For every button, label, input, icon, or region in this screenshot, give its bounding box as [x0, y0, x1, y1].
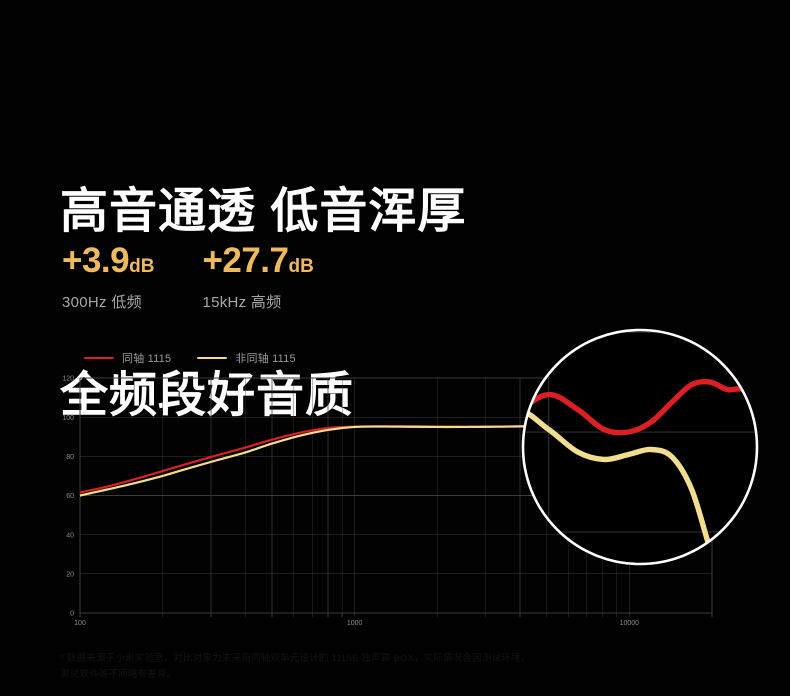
legend-swatch-non-coaxial-icon — [197, 357, 227, 359]
stat-high-frequency-value: +27.7dB — [202, 243, 313, 278]
stat-high-frequency-unit: dB — [289, 256, 314, 277]
legend-swatch-coaxial-icon — [84, 357, 114, 359]
svg-text:1000: 1000 — [347, 620, 363, 627]
stat-low-frequency-unit: dB — [129, 256, 154, 277]
footnote-line-2: 测试软件等不同略有差异。 — [60, 667, 640, 683]
svg-text:20: 20 — [66, 571, 74, 578]
footnote-line-1: * 数据来源于小米实验室，对比对象为未采用同轴双单元设计的 1115E 独声霸 … — [60, 651, 640, 667]
headline-line-2: 全频段好音质 — [60, 365, 740, 426]
stat-low-frequency: +3.9dB 300Hz 低频 — [62, 243, 154, 312]
stat-low-frequency-number: +3.9 — [62, 241, 129, 280]
legend-label-non-coaxial: 非同轴 1115 — [235, 350, 296, 366]
chart-ticks — [80, 613, 712, 617]
stat-low-frequency-value: +3.9dB — [62, 243, 154, 278]
svg-text:10000: 10000 — [620, 620, 640, 627]
headline-line-1: 高音通透 低音浑厚 — [60, 181, 740, 242]
svg-text:100: 100 — [74, 620, 86, 627]
stat-high-frequency-number: +27.7 — [202, 241, 288, 280]
stat-low-frequency-caption: 300Hz 低频 — [62, 291, 154, 312]
legend-label-coaxial: 同轴 1115 — [122, 350, 171, 366]
svg-text:0: 0 — [70, 611, 74, 618]
stats-row: +3.9dB 300Hz 低频 +27.7dB 15kHz 高频 — [62, 243, 314, 312]
stat-high-frequency-caption: 15kHz 高频 — [202, 291, 313, 312]
footnote: * 数据来源于小米实验室，对比对象为未采用同轴双单元设计的 1115E 独声霸 … — [60, 651, 640, 682]
promo-page: 高音通透 低音浑厚 全频段好音质 +3.9dB 300Hz 低频 +27.7dB… — [0, 0, 790, 696]
chart-legend: 同轴 1115 非同轴 1115 — [84, 350, 296, 366]
legend-item-coaxial: 同轴 1115 — [84, 350, 171, 366]
stat-high-frequency: +27.7dB 15kHz 高频 — [202, 243, 313, 312]
legend-item-non-coaxial: 非同轴 1115 — [197, 350, 296, 366]
